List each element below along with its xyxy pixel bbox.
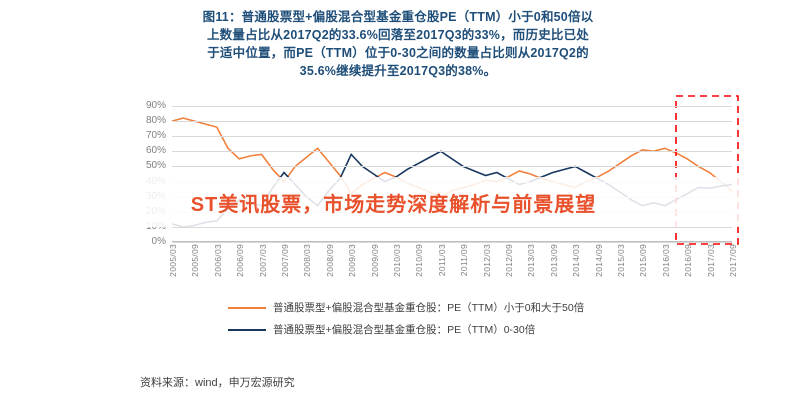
x-axis-tick-label: 2010/03: [392, 244, 402, 277]
x-axis-tick-label: 2014/09: [594, 244, 604, 277]
chart-title-line-1: 图11：普通股票型+偏股混合型基金重仓股PE（TTM）小于0和50倍以: [148, 8, 648, 26]
x-axis-tick-label: 2013/03: [526, 244, 536, 277]
x-axis-tick-label: 2016/09: [683, 244, 693, 277]
y-axis-tick-label: 80%: [146, 115, 166, 126]
x-axis-tick-label: 2015/03: [616, 244, 626, 277]
x-axis-tick-label: 2017/03: [706, 244, 716, 277]
x-axis-tick-label: 2008/03: [302, 244, 312, 277]
y-axis-tick-label: 50%: [146, 160, 166, 171]
y-axis-tick-label: 90%: [146, 100, 166, 111]
legend-item-1: 普通股票型+偏股混合型基金重仓股：PE（TTM）0-30倍: [228, 322, 648, 337]
chart-title-line-2: 上数量占比从2017Q2的33.6%回落至2017Q3的33%，而历史比已处: [148, 26, 648, 44]
x-axis-tick-label: 2010/09: [414, 244, 424, 277]
gridline: [172, 242, 732, 243]
gridline: [172, 106, 732, 107]
x-axis-tick-label: 2012/09: [504, 244, 514, 277]
x-axis-tick-label: 2013/09: [549, 244, 559, 277]
x-axis-tick-label: 2009/09: [370, 244, 380, 277]
x-axis-tick-label: 2007/03: [258, 244, 268, 277]
gridline: [172, 166, 732, 167]
legend-label-0: 普通股票型+偏股混合型基金重仓股：PE（TTM）小于0和大于50倍: [273, 300, 584, 315]
chart-title-line-4: 35.6%继续提升至2017Q3的38%。: [148, 62, 648, 80]
chart-legend: 普通股票型+偏股混合型基金重仓股：PE（TTM）小于0和大于50倍 普通股票型+…: [228, 300, 648, 344]
legend-item-0: 普通股票型+偏股混合型基金重仓股：PE（TTM）小于0和大于50倍: [228, 300, 648, 315]
x-axis-tick-label: 2005/03: [168, 244, 178, 277]
overlay-banner-text: ST美讯股票，市场走势深度解析与前景展望: [191, 188, 597, 217]
chart-page: 图11：普通股票型+偏股混合型基金重仓股PE（TTM）小于0和50倍以 上数量占…: [0, 0, 787, 400]
overlay-banner: ST美讯股票，市场走势深度解析与前景展望: [0, 177, 787, 227]
y-axis-tick-label: 60%: [146, 145, 166, 156]
legend-swatch-icon-0: [228, 307, 266, 309]
y-axis-tick-label: 70%: [146, 130, 166, 141]
gridline: [172, 227, 732, 228]
x-axis-tick-label: 2007/09: [280, 244, 290, 277]
x-axis-tick-label: 2017/09: [728, 244, 738, 277]
x-axis-tick-label: 2005/09: [190, 244, 200, 277]
x-axis-tick-label: 2009/03: [347, 244, 357, 277]
x-axis-tick-label: 2012/03: [482, 244, 492, 277]
gridline: [172, 151, 732, 152]
x-axis-tick-label: 2014/03: [571, 244, 581, 277]
chart-title-line-3: 于适中位置，而PE（TTM）位于0-30之间的数量占比则从2017Q2的: [148, 44, 648, 62]
x-axis-tick-label: 2015/09: [638, 244, 648, 277]
x-axis-tick-label: 2006/09: [235, 244, 245, 277]
legend-label-1: 普通股票型+偏股混合型基金重仓股：PE（TTM）0-30倍: [273, 322, 535, 337]
x-axis-tick-label: 2011/09: [459, 244, 469, 276]
source-note: 资料来源：wind，申万宏源研究: [140, 374, 295, 390]
y-axis-tick-label: 0%: [152, 236, 166, 247]
x-axis-labels: 2005/032005/092006/032006/092007/032007/…: [172, 244, 732, 304]
legend-swatch-icon-1: [228, 329, 266, 331]
gridline: [172, 136, 732, 137]
x-axis-tick-label: 2006/03: [213, 244, 223, 277]
chart-title: 图11：普通股票型+偏股混合型基金重仓股PE（TTM）小于0和50倍以 上数量占…: [148, 8, 648, 80]
x-axis-tick-label: 2011/03: [437, 244, 447, 276]
x-axis-tick-label: 2016/03: [661, 244, 671, 277]
gridline: [172, 121, 732, 122]
x-axis-tick-label: 2008/09: [325, 244, 335, 277]
